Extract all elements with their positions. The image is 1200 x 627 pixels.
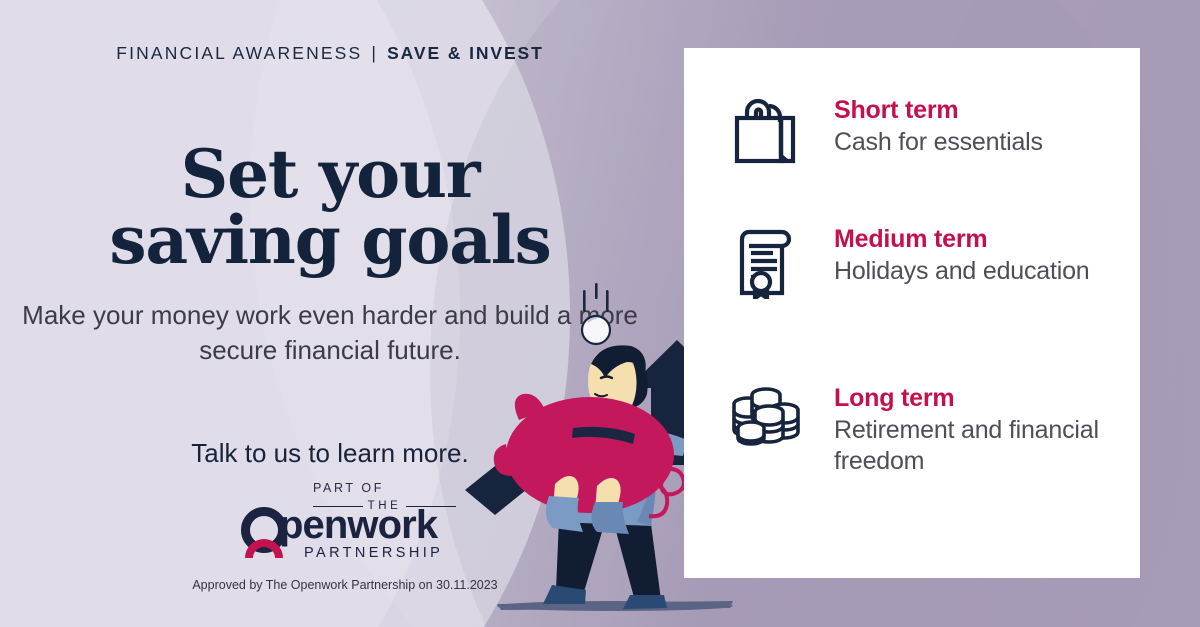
goal-title: Medium term [834, 225, 1090, 254]
openwork-logo: PART OF THE penwork PARTNERSHIP [241, 481, 456, 561]
coin-stacks-icon [726, 384, 804, 448]
goal-title: Short term [834, 96, 1043, 125]
goal-text-long-term: Long term Retirement and financial freed… [834, 384, 1140, 477]
falling-coin-icon [582, 283, 610, 344]
eyebrow-separator: | [371, 43, 378, 63]
goal-text-short-term: Short term Cash for essentials [834, 96, 1043, 158]
goal-item-long-term: Long term Retirement and financial freed… [726, 384, 1140, 477]
goal-item-short-term: Short term Cash for essentials [726, 96, 1043, 164]
logo-partnership-word: PARTNERSHIP [304, 546, 443, 561]
piggy-body [506, 397, 674, 513]
goal-item-medium-term: Medium term Holidays and education [726, 225, 1090, 299]
financial-awareness-poster: FINANCIAL AWARENESS | SAVE & INVEST Set … [0, 0, 1200, 627]
left-cuff [546, 496, 583, 532]
goal-subtitle: Holidays and education [834, 256, 1090, 287]
headline-line-2: saving goals [0, 208, 660, 273]
shopping-bag-icon [726, 96, 804, 164]
eyebrow-heading: FINANCIAL AWARENESS | SAVE & INVEST [0, 43, 660, 64]
goal-subtitle: Retirement and financial freedom [834, 415, 1140, 477]
page-title: Set your saving goals [0, 142, 660, 273]
goal-title: Long term [834, 384, 1140, 413]
logo-penwork-word: penwork [279, 505, 437, 545]
goal-subtitle: Cash for essentials [834, 127, 1043, 158]
back-shoe [623, 595, 667, 609]
logo-mark: THE penwork PARTNERSHIP [241, 499, 456, 561]
savings-goals-card: Short term Cash for essentials Med [684, 48, 1140, 578]
goal-text-medium-term: Medium term Holidays and education [834, 225, 1090, 287]
certificate-icon [726, 225, 804, 299]
eyebrow-topic: SAVE & INVEST [387, 43, 544, 63]
logo-part-of-label: PART OF [241, 481, 456, 495]
eyebrow-category: FINANCIAL AWARENESS [116, 43, 362, 63]
